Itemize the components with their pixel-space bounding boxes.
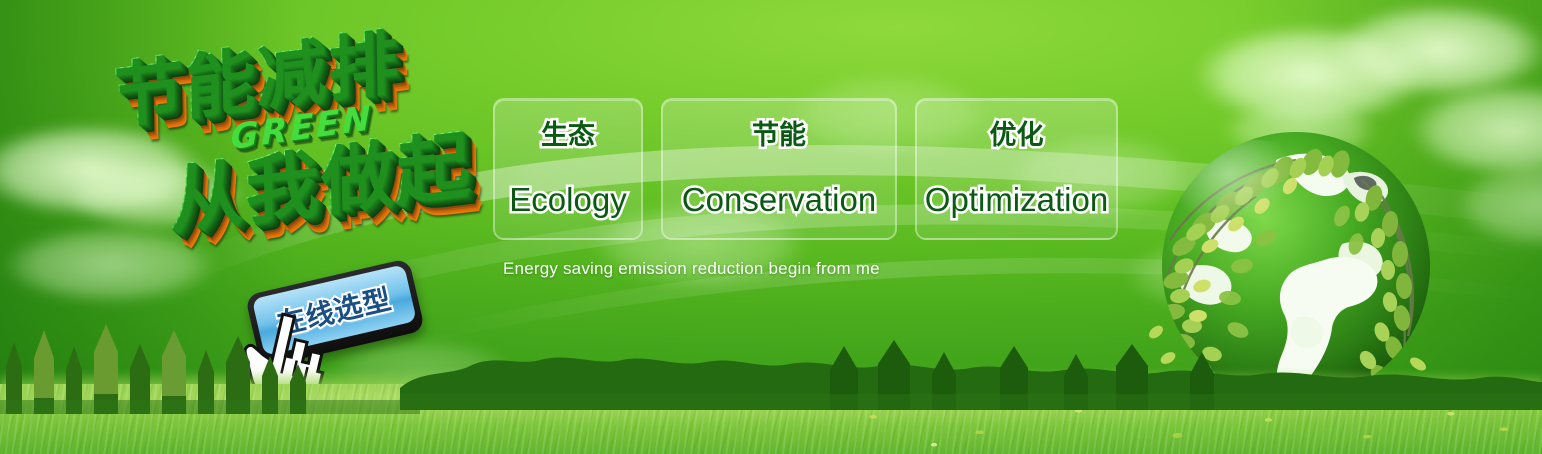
feature-card-optimization-en: Optimization: [925, 183, 1108, 216]
feature-card-conservation-en: Conservation: [682, 183, 876, 216]
cloud-icon: [1160, 10, 1460, 140]
cloud-icon: [1100, 230, 1320, 320]
headline-line2: 从我做起: [168, 127, 471, 238]
headline-line2-text: 从我做起: [168, 121, 471, 245]
online-selection-button-label: 在线选型: [273, 278, 395, 343]
cloud-icon: [1380, 70, 1542, 190]
headline-accent-green: GREEN: [231, 98, 374, 158]
feature-card-conservation[interactable]: 节能 Conservation: [661, 98, 897, 240]
headline-line1: 节能减排: [112, 26, 399, 131]
cloud-icon: [1430, 150, 1542, 260]
cloud-icon: [1300, 0, 1542, 110]
feature-card-list: 生态 Ecology 节能 Conservation 优化 Optimizati…: [493, 98, 1118, 240]
cloud-icon: [40, 150, 270, 240]
feature-card-optimization-cn: 优化: [990, 122, 1044, 149]
online-selection-button-wrapper[interactable]: 在线选型: [245, 258, 425, 368]
feature-card-conservation-cn: 节能: [752, 122, 806, 149]
cloud-icon: [0, 110, 240, 230]
headline-3d: 节能减排 GREEN 从我做起: [104, 36, 504, 276]
online-selection-button[interactable]: 在线选型: [245, 258, 425, 368]
feature-card-ecology-en: Ecology: [509, 183, 626, 216]
button-face: 在线选型: [252, 264, 417, 356]
feature-card-ecology[interactable]: 生态 Ecology: [493, 98, 643, 240]
cloud-icon: [1200, 90, 1400, 170]
cloud-icon: [0, 215, 250, 315]
tagline: Energy saving emission reduction begin f…: [503, 259, 880, 279]
eco-banner: 节能减排 GREEN 从我做起 在线选型 生态 Ecology 节能: [0, 0, 1542, 454]
grass-field-icon: [0, 384, 1542, 454]
feature-card-optimization[interactable]: 优化 Optimization: [915, 98, 1118, 240]
headline-line1-text: 节能减排: [112, 20, 399, 138]
feature-card-ecology-cn: 生态: [541, 122, 595, 149]
